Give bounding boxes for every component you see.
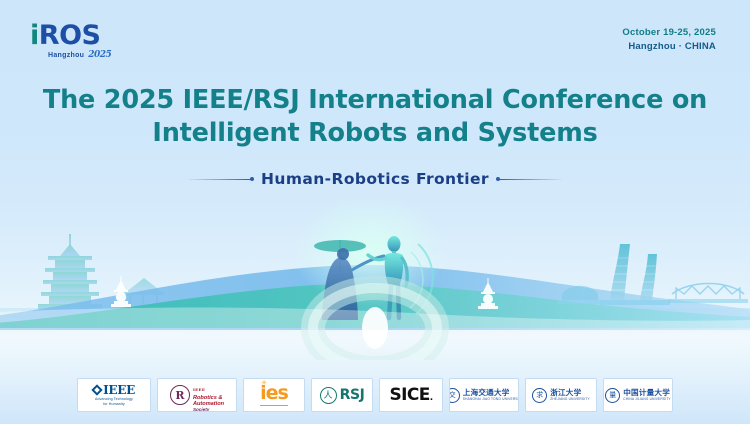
logo-ieee-ies[interactable]: ✳ ies	[243, 378, 305, 412]
ieee-tagline-line1: Advancing Technology	[95, 397, 133, 401]
ieee-tagline-line2: for Humanity	[95, 402, 133, 406]
event-location: Hangzhou · CHINA	[622, 40, 716, 54]
rsj-seal-icon: 人	[320, 387, 337, 404]
ras-prefix: IEEE	[193, 387, 205, 392]
ras-name-line3: Society	[193, 407, 224, 412]
logo-ieee-ras[interactable]: R IEEE Robotics & Automation Society	[157, 378, 237, 412]
iros-logo-city: Hangzhou	[48, 52, 84, 59]
sice-dot: .	[430, 393, 433, 403]
sjtu-seal-icon: 交	[449, 388, 460, 403]
zju-name-en: ZHEJIANG UNIVERSITY	[550, 398, 590, 402]
event-date-location: October 19-25, 2025 Hangzhou · CHINA	[622, 26, 716, 54]
decorative-line-left	[189, 179, 251, 180]
white-stupa-left	[111, 276, 131, 307]
robot-head	[388, 236, 401, 252]
subtitle-row: Human-Robotics Frontier	[0, 170, 750, 188]
ieee-diamond-icon	[91, 384, 102, 395]
logo-ieee[interactable]: IEEE Advancing Technology for Humanity	[77, 378, 151, 412]
decorative-line-right	[499, 179, 561, 180]
zju-seal-icon: 求	[532, 388, 547, 403]
ies-spark-icon: ✳	[261, 380, 266, 387]
ies-wordmark: ✳ ies	[260, 384, 288, 406]
iros-logo[interactable]: iROS Hangzhou 2025	[30, 22, 140, 66]
leifeng-pagoda	[38, 234, 102, 309]
logo-sice[interactable]: SICE.	[379, 378, 443, 412]
sjtu-name-en: SHANGHAI JIAO TONG UNIVERSITY	[463, 398, 519, 402]
logo-sjtu[interactable]: 交 上海交通大学 SHANGHAI JIAO TONG UNIVERSITY	[449, 378, 519, 412]
hero-illustration	[0, 200, 750, 360]
title-line-2: Intelligent Robots and Systems	[40, 117, 710, 150]
sponsor-logo-bar: IEEE Advancing Technology for Humanity R…	[0, 378, 750, 412]
title-line-1: The 2025 IEEE/RSJ International Conferen…	[43, 85, 707, 115]
figure-head	[337, 248, 349, 260]
sice-wordmark: SICE	[389, 385, 429, 405]
ras-emblem-icon: R	[170, 385, 190, 405]
rsj-wordmark: RSJ	[340, 388, 365, 402]
subtitle: Human-Robotics Frontier	[261, 170, 489, 188]
logo-rsj[interactable]: 人 RSJ	[311, 378, 373, 412]
ieee-wordmark: IEEE	[103, 384, 135, 396]
iros-logo-year: 2025	[88, 50, 111, 60]
iros-logo-subline: Hangzhou 2025	[30, 50, 140, 60]
cjlu-name-en: CHINA JILIANG UNIVERSITY	[623, 398, 671, 402]
page-title: The 2025 IEEE/RSJ International Conferen…	[0, 84, 750, 149]
logo-zju[interactable]: 求 浙江大学 ZHEJIANG UNIVERSITY	[525, 378, 597, 412]
event-date: October 19-25, 2025	[622, 26, 716, 40]
iros-wordmark: iROS	[30, 22, 140, 49]
poster-root: iROS Hangzhou 2025 October 19-25, 2025 H…	[0, 0, 750, 424]
cjlu-seal-icon: 量	[605, 388, 620, 403]
logo-cjlu[interactable]: 量 中国计量大学 CHINA JILIANG UNIVERSITY	[603, 378, 673, 412]
arch-bridge	[668, 284, 748, 304]
